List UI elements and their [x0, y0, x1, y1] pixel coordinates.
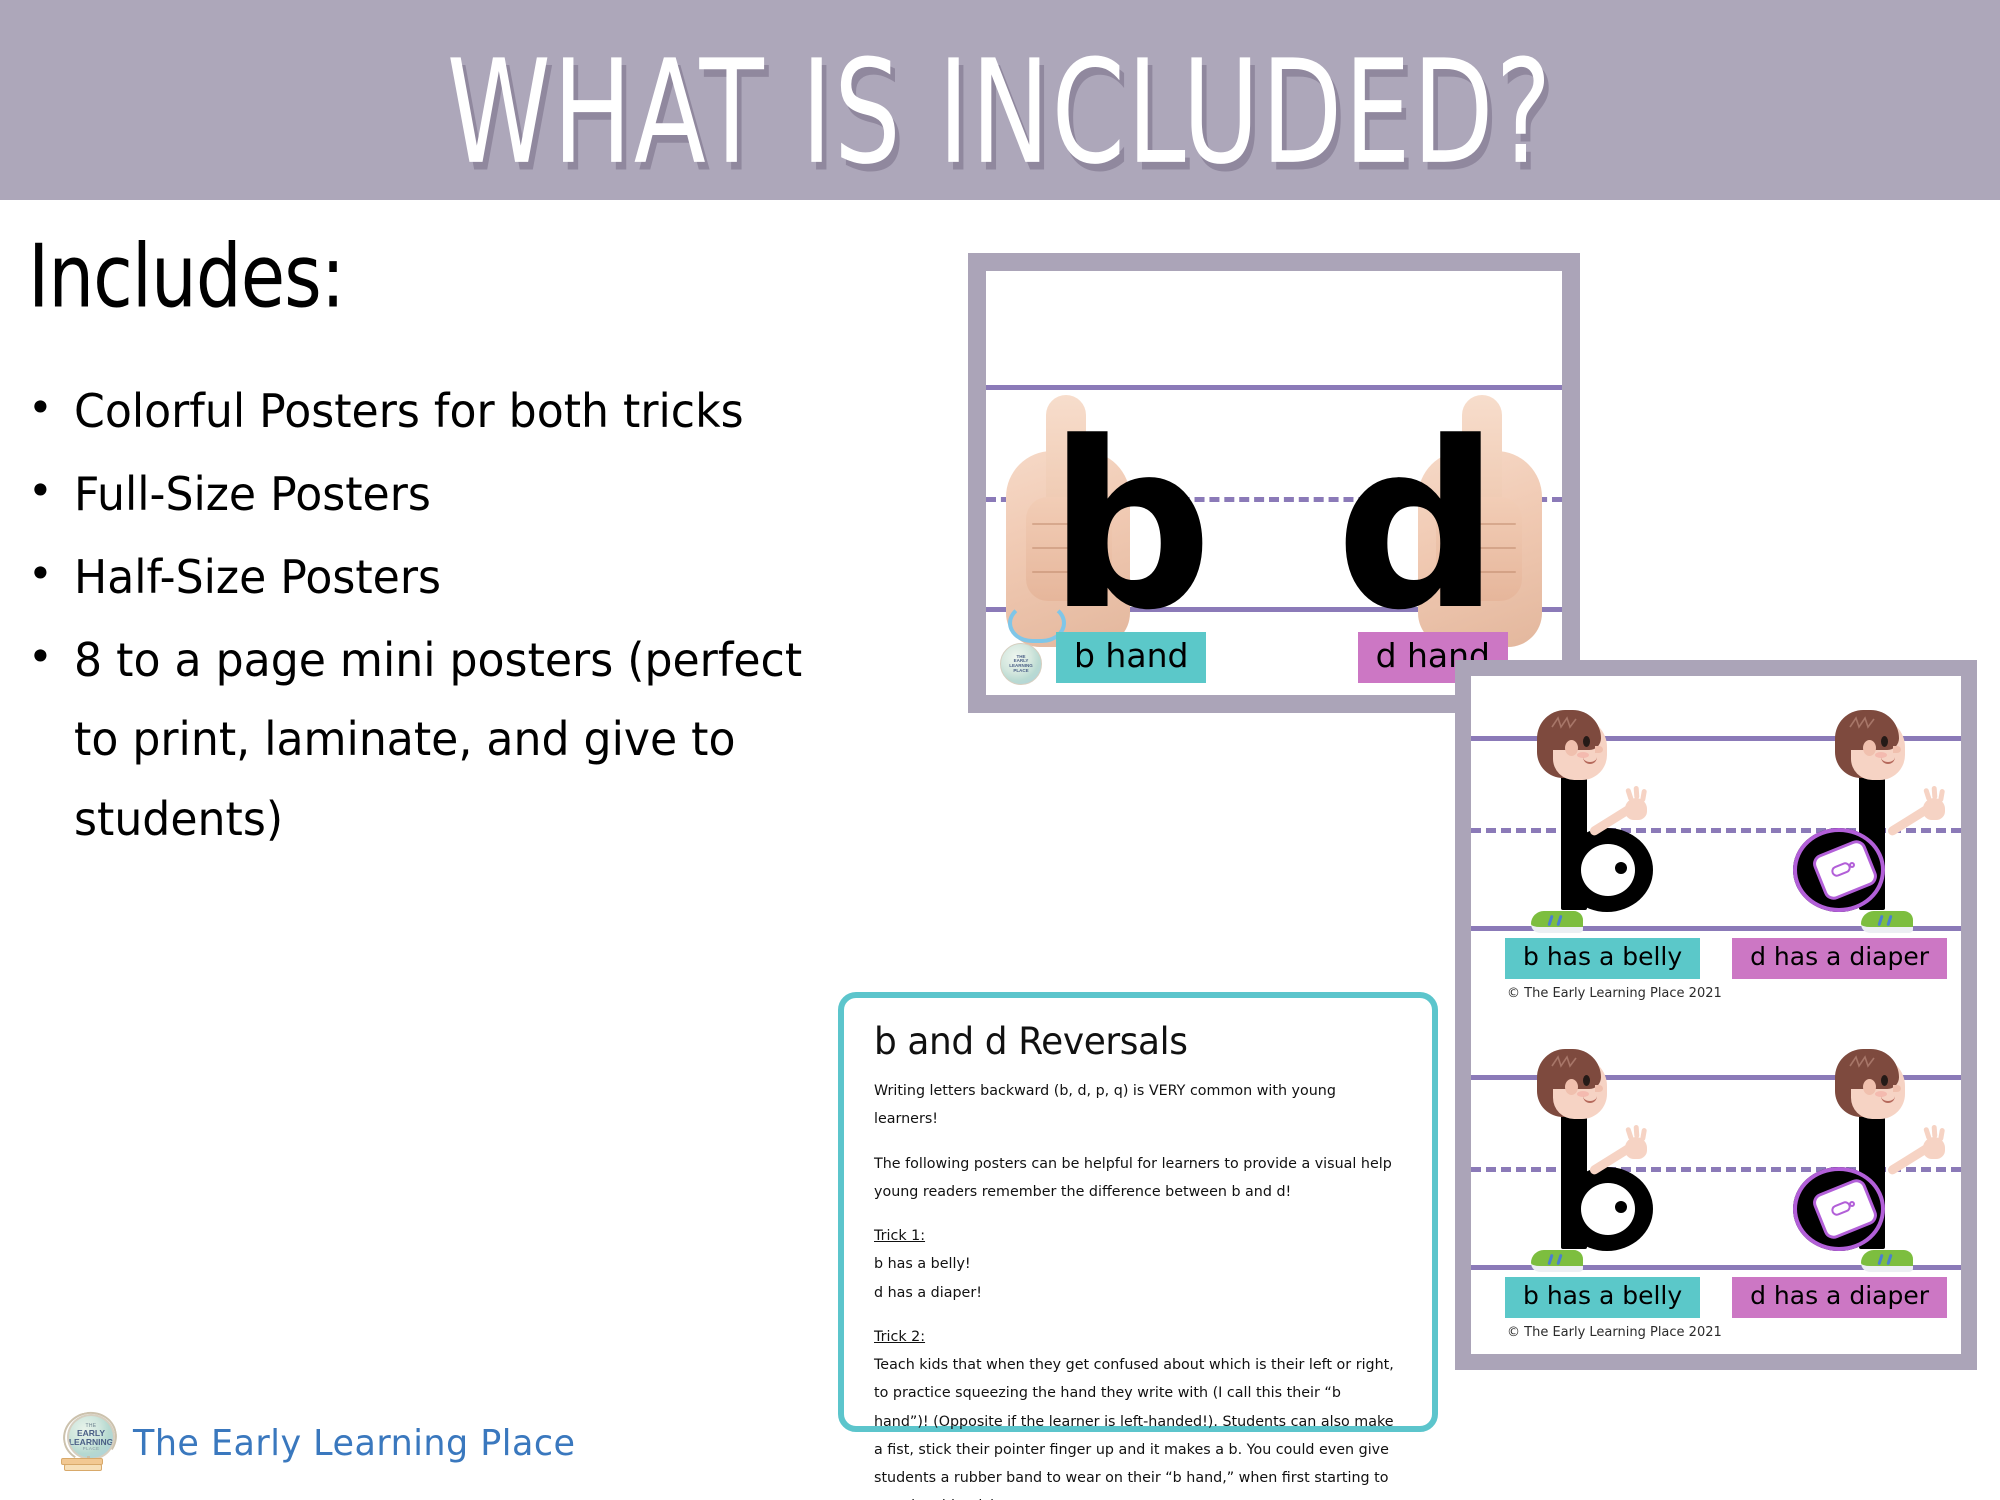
trick-1-line-2: d has a diaper!: [874, 1279, 1398, 1307]
brand-name: The Early Learning Place: [133, 1423, 576, 1464]
shoe-icon: [1861, 911, 1913, 933]
doc-paragraph-2: The following posters can be helpful for…: [874, 1150, 1398, 1207]
trick-1-line-1: b has a belly!: [874, 1250, 1398, 1278]
belly-shape: [1581, 1183, 1635, 1235]
logo-line-3: LEARNING: [69, 1438, 113, 1447]
shoe-icon: [1531, 1250, 1583, 1272]
boy-head-icon: [1835, 1049, 1907, 1125]
trick-1-heading: Trick 1:: [874, 1222, 925, 1250]
copyright-text: © The Early Learning Place 2021: [1507, 1325, 1722, 1340]
trick-2-heading: Trick 2:: [874, 1323, 925, 1351]
reversals-info-card[interactable]: b and d Reversals Writing letters backwa…: [838, 992, 1438, 1432]
half-size-panel-bottom: b has a belly d has a diaper © The Early…: [1471, 1015, 1961, 1354]
includes-bullet-list: • Colorful Posters for both tricks • Ful…: [28, 372, 888, 859]
shoe-icon: [1861, 1250, 1913, 1272]
includes-heading: Includes:: [28, 225, 845, 327]
letter-d-glyph: d: [1335, 413, 1500, 643]
list-item: • Half-Size Posters: [28, 538, 888, 617]
logo-line-4: PLACE: [1013, 669, 1028, 674]
poster-b-d-characters[interactable]: b has a belly d has a diaper © The Early…: [1455, 660, 1977, 1370]
doc-title: b and d Reversals: [874, 1020, 1390, 1063]
copyright-text: © The Early Learning Place 2021: [1507, 986, 1722, 1001]
poster-characters-canvas: b has a belly d has a diaper © The Early…: [1471, 676, 1961, 1354]
slide-canvas: WHAT IS INCLUDED? Includes: • Colorful P…: [0, 0, 2000, 1500]
d-hand-cell: d d hand: [1274, 271, 1562, 695]
b-hand-cell: b b hand: [986, 271, 1274, 695]
poster-b-d-hands[interactable]: b b hand d d hand THE: [968, 253, 1580, 713]
belly-shape: [1581, 844, 1635, 896]
boy-head-icon: [1537, 1049, 1609, 1125]
list-item: • Full-Size Posters: [28, 455, 888, 534]
page-title: WHAT IS INCLUDED?: [60, 30, 1940, 196]
logo-line-4: PLACE: [83, 1446, 100, 1451]
list-item-label: Half-Size Posters: [74, 538, 441, 617]
doc-paragraph-1: Writing letters backward (b, d, p, q) is…: [874, 1077, 1398, 1134]
header-bar: WHAT IS INCLUDED?: [0, 0, 2000, 200]
boy-head-icon: [1835, 710, 1907, 786]
poster-globe-logo-icon: THE EARLY LEARNING PLACE: [1000, 643, 1042, 685]
b-hand-label: b hand: [1056, 632, 1206, 683]
trick-2-body: Teach kids that when they get confused a…: [874, 1351, 1398, 1500]
bullet-marker-icon: •: [28, 455, 74, 527]
character-b: [1513, 1049, 1683, 1264]
brand-footer: THE EARLY LEARNING PLACE The Early Learn…: [55, 1412, 589, 1474]
letter-b-glyph: b: [1048, 413, 1213, 643]
bullet-marker-icon: •: [28, 538, 74, 610]
belly-button-icon: [1615, 862, 1627, 874]
d-diaper-label: d has a diaper: [1732, 1277, 1947, 1318]
list-item: • 8 to a page mini posters (perfect to p…: [28, 621, 888, 858]
character-d: [1765, 1049, 1935, 1264]
half-size-panel-top: b has a belly d has a diaper © The Early…: [1471, 676, 1961, 1015]
bullet-marker-icon: •: [28, 372, 74, 444]
list-item-label: Full-Size Posters: [74, 455, 431, 534]
includes-section: Includes: • Colorful Posters for both tr…: [28, 225, 888, 863]
belly-button-icon: [1615, 1201, 1627, 1213]
list-item: • Colorful Posters for both tricks: [28, 372, 888, 451]
character-d: [1765, 710, 1935, 925]
bullet-marker-icon: •: [28, 621, 74, 693]
b-belly-label: b has a belly: [1505, 1277, 1700, 1318]
d-diaper-label: d has a diaper: [1732, 938, 1947, 979]
character-b: [1513, 710, 1683, 925]
boy-head-icon: [1537, 710, 1609, 786]
poster-hands-canvas: b b hand d d hand THE: [986, 271, 1562, 695]
globe-logo-icon: THE EARLY LEARNING PLACE: [55, 1412, 119, 1474]
shoe-icon: [1531, 911, 1583, 933]
b-belly-label: b has a belly: [1505, 938, 1700, 979]
list-item-label: Colorful Posters for both tricks: [74, 372, 744, 451]
list-item-label: 8 to a page mini posters (perfect to pri…: [74, 621, 855, 858]
